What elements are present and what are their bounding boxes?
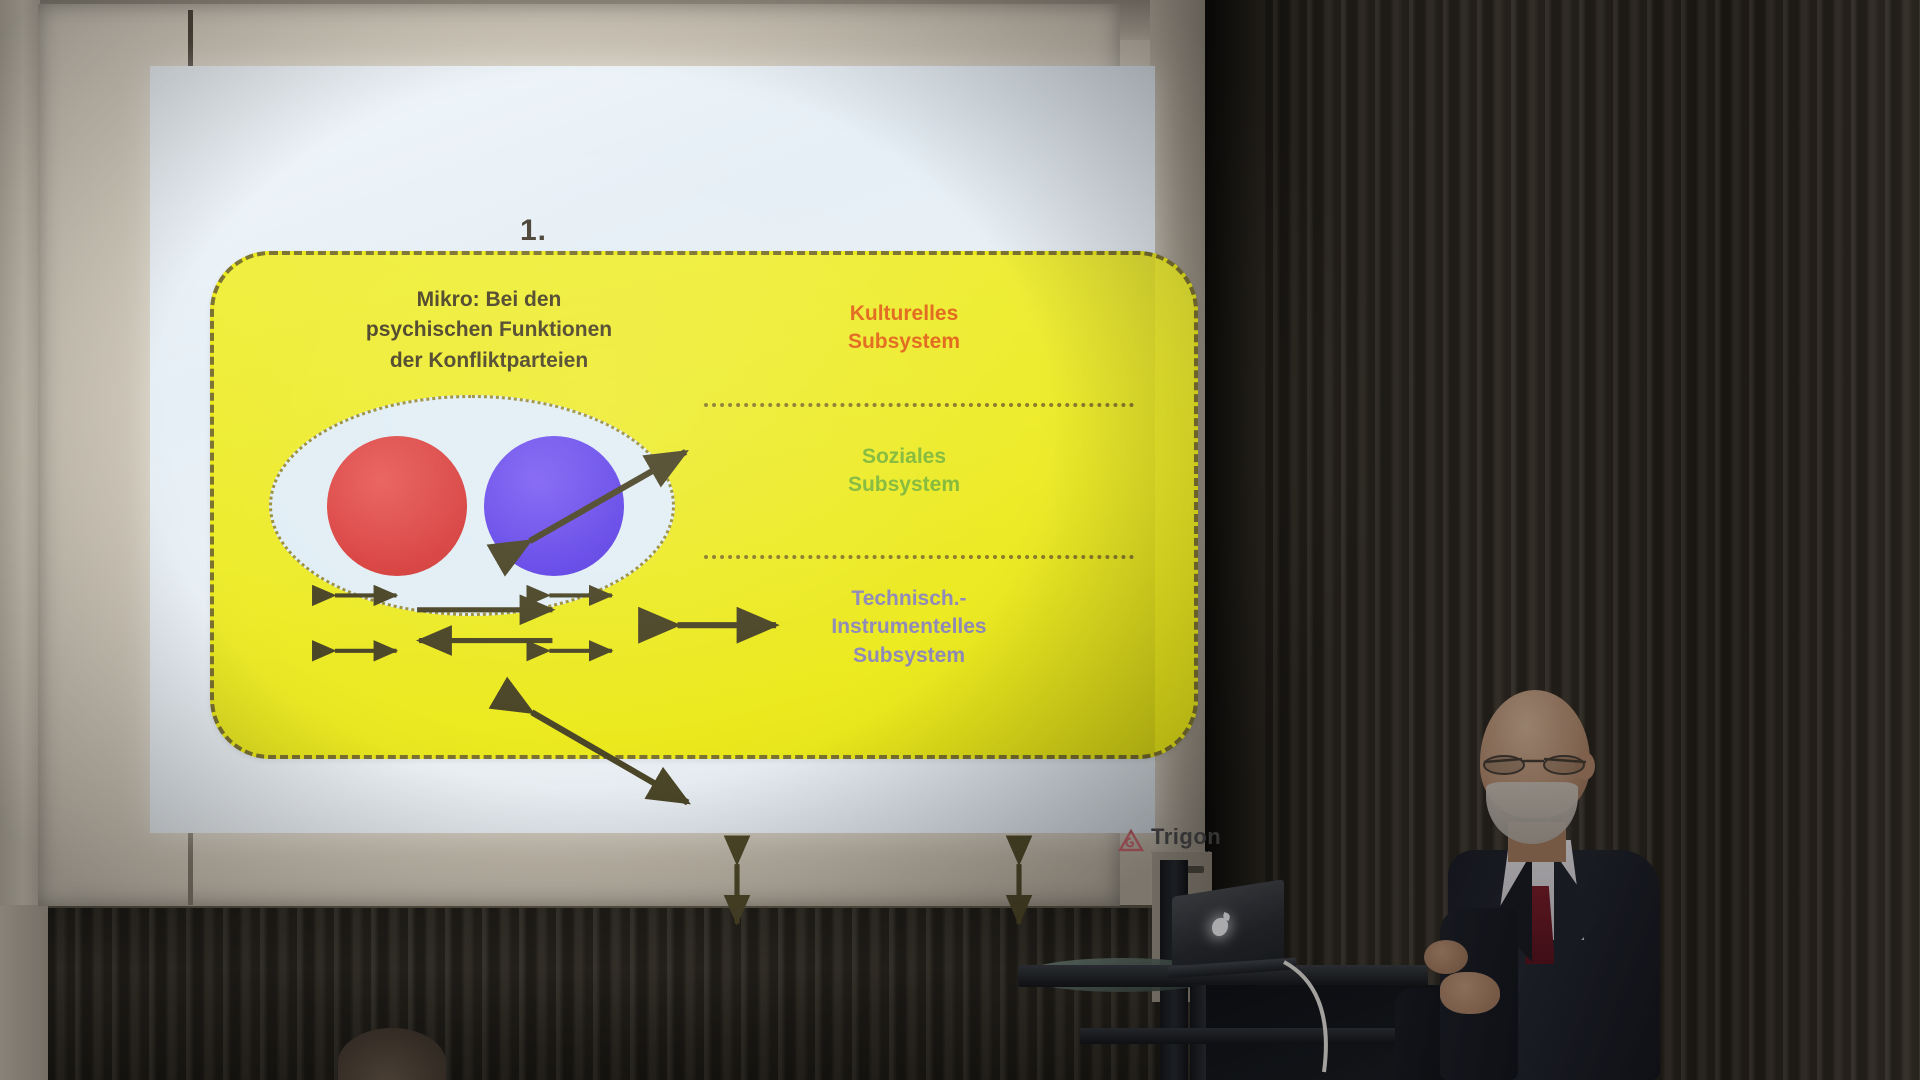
floor-strip (0, 905, 48, 1080)
arrow-to-technisch (532, 712, 688, 802)
trigon-spiral-icon (1118, 829, 1144, 853)
projection-screen-frame: 1. Mikro: Bei den psychischen Funktionen… (38, 4, 1120, 906)
power-cable (1280, 960, 1400, 1078)
projection-screen: 1. Mikro: Bei den psychischen Funktionen… (150, 66, 1155, 833)
yellow-system-boundary: Mikro: Bei den psychischen Funktionen de… (210, 251, 1198, 759)
arrow-to-kulturelles (530, 452, 686, 541)
slide: 1. Mikro: Bei den psychischen Funktionen… (150, 66, 1155, 833)
inner-arrows-party-b (549, 595, 612, 650)
presenter-hand-lower (1440, 972, 1500, 1014)
trigon-name: Trigon (1151, 826, 1221, 848)
presenter (1430, 690, 1690, 1080)
glasses-icon (1482, 753, 1590, 777)
presenter-hand-upper (1424, 940, 1468, 974)
slide-number: 1. (520, 214, 547, 248)
interaction-arrows-between-parties (417, 610, 552, 641)
presentation-photo-scene: 1. Mikro: Bei den psychischen Funktionen… (0, 0, 1920, 1080)
arrow-layer (214, 255, 1219, 1022)
inner-arrows-party-a (335, 595, 397, 650)
